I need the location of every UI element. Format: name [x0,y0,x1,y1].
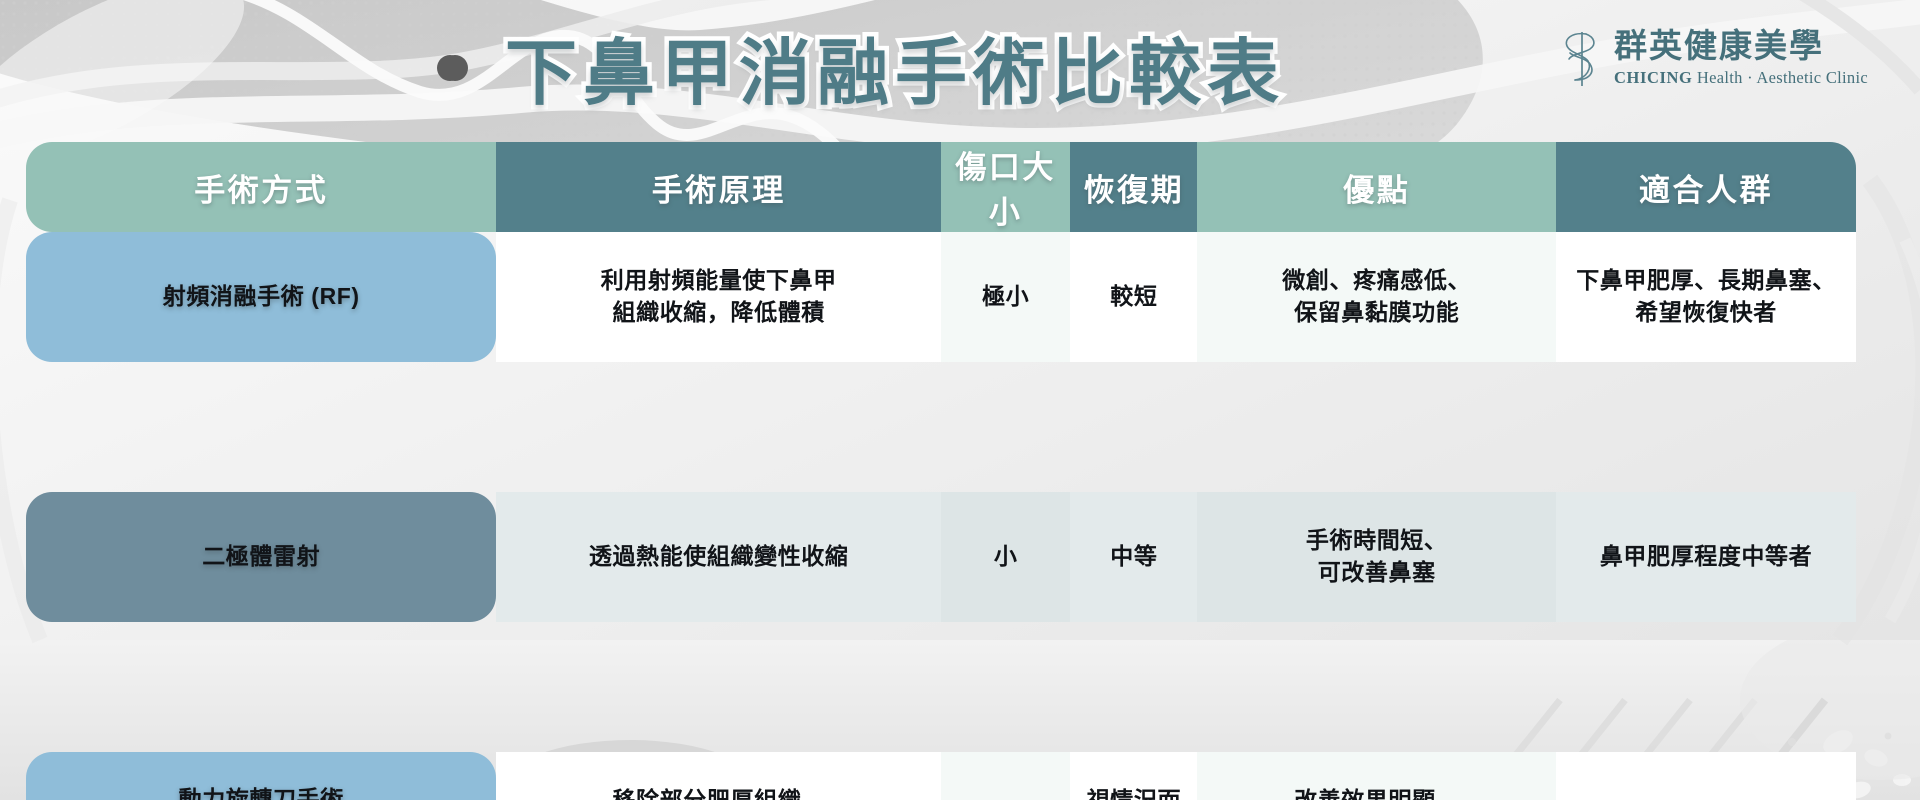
cell-wound: 極小 [941,232,1070,362]
row-method-label: 動力旋轉刀手術 （Microdebrider） [26,752,496,800]
cell-principle: 利用射頻能量使下鼻甲 組織收縮，降低體積 [496,232,941,362]
table-body: 射頻消融手術 (RF) 利用射頻能量使下鼻甲 組織收縮，降低體積 極小 較短 微… [26,232,1856,800]
table-head: 手術方式 手術原理 傷口大小 恢復期 優點 適合人群 [26,142,1856,232]
brand-logo: 群英健康美學 CHICING Health · Aesthetic Clinic [1560,28,1868,90]
cell-wound: 小～中 [941,752,1070,800]
logo-english-tagline: Health · Aesthetic Clinic [1697,68,1868,87]
text-line: 利用射頻能量使下鼻甲 [506,265,931,297]
text-line: 透過熱能使組織變性收縮 [506,541,931,573]
text-line: 下鼻甲肥厚、長期鼻塞、 [1566,265,1846,297]
text-line: 手術時間短、 [1207,525,1546,557]
cell-principle: 移除部分肥厚組織， 增加鼻腔空間 [496,752,941,800]
text-line: 希望恢復快者 [1566,297,1846,329]
text-line: 保留鼻黏膜功能 [1207,297,1546,329]
cell-benefit: 手術時間短、 可改善鼻塞 [1197,492,1556,622]
surgery-comparison-table: 手術方式 手術原理 傷口大小 恢復期 優點 適合人群 射頻消融手術 (RF) 利… [26,142,1856,800]
cell-audience: 下鼻甲肥厚、長期鼻塞、 希望恢復快者 [1556,232,1856,362]
row-method-label: 二極體雷射 [26,492,496,622]
row-method-name: 動力旋轉刀手術 [179,786,344,800]
text-line: 改善效果明顯、 [1207,785,1546,800]
column-header-recovery: 恢復期 [1070,142,1197,232]
cell-benefit: 微創、疼痛感低、 保留鼻黏膜功能 [1197,232,1556,362]
column-header-principle: 手術原理 [496,142,941,232]
page-title: 下鼻甲消融手術比較表 [0,14,1790,119]
row-spacer [26,622,1856,752]
cell-audience: 鼻甲肥厚較嚴重者 [1556,752,1856,800]
text-line: 微創、疼痛感低、 [1207,265,1546,297]
logo-text-block: 群英健康美學 CHICING Health · Aesthetic Clinic [1614,30,1868,88]
cell-benefit: 改善效果明顯、 可精準處理肥厚部位 [1197,752,1556,800]
table-row: 動力旋轉刀手術 （Microdebrider） 移除部分肥厚組織， 增加鼻腔空間… [26,752,1856,800]
text-line: 鼻甲肥厚程度中等者 [1566,541,1846,573]
cell-wound: 小 [941,492,1070,622]
comparison-table-container: 手術方式 手術原理 傷口大小 恢復期 優點 適合人群 射頻消融手術 (RF) 利… [26,142,1856,778]
logo-english-brand: CHICING [1614,68,1692,87]
table-row: 射頻消融手術 (RF) 利用射頻能量使下鼻甲 組織收縮，降低體積 極小 較短 微… [26,232,1856,362]
cell-principle: 透過熱能使組織變性收縮 [496,492,941,622]
column-header-method: 手術方式 [26,142,496,232]
cell-recovery: 視情況而定 [1070,752,1197,800]
text-line: 移除部分肥厚組織， [506,785,931,800]
column-header-wound: 傷口大小 [941,142,1070,232]
cell-recovery: 中等 [1070,492,1197,622]
cell-audience: 鼻甲肥厚程度中等者 [1556,492,1856,622]
row-method-name: 二極體雷射 [202,543,320,569]
row-method-label: 射頻消融手術 (RF) [26,232,496,362]
row-method-name: 射頻消融手術 (RF) [163,283,360,309]
table-header-row: 手術方式 手術原理 傷口大小 恢復期 優點 適合人群 [26,142,1856,232]
logo-chinese-name: 群英健康美學 [1614,30,1868,66]
text-line: 可改善鼻塞 [1207,557,1546,589]
chicing-s-monogram-icon [1560,28,1602,90]
column-header-benefit: 優點 [1197,142,1556,232]
logo-english-line: CHICING Health · Aesthetic Clinic [1614,68,1868,88]
row-spacer [26,362,1856,492]
column-header-audience: 適合人群 [1556,142,1856,232]
table-row: 二極體雷射 透過熱能使組織變性收縮 小 中等 手術時間短、 可改善鼻塞 鼻甲肥厚… [26,492,1856,622]
text-line: 組織收縮，降低體積 [506,297,931,329]
cell-recovery: 較短 [1070,232,1197,362]
